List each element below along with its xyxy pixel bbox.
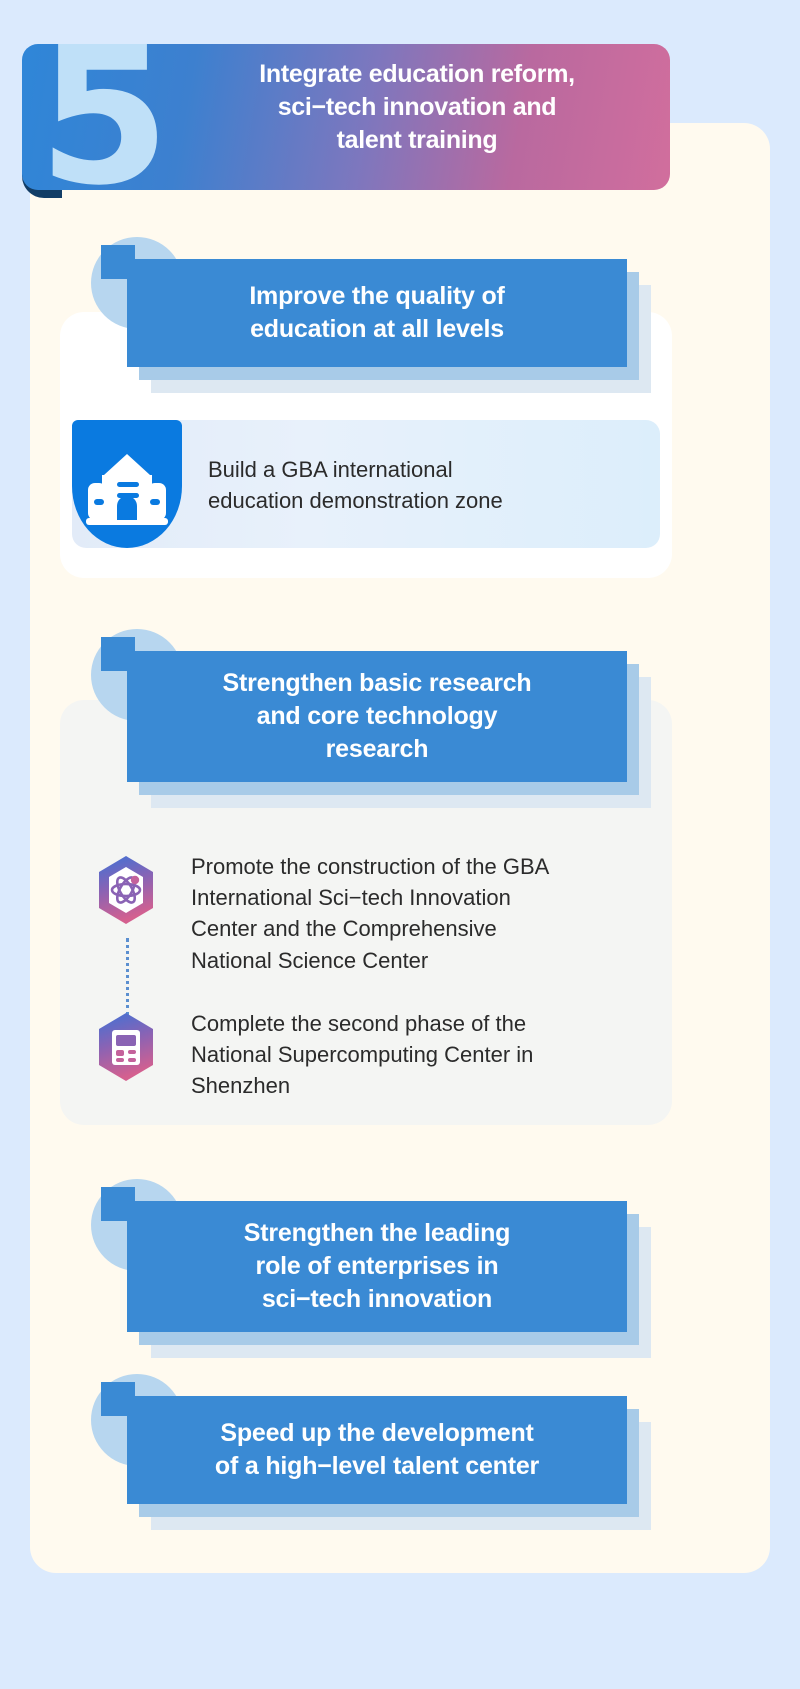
supercomputer-icon bbox=[95, 1012, 157, 1082]
header-banner: 5 Integrate education reform, sci−tech i… bbox=[22, 44, 670, 190]
banner-face: Strengthen basic research and core techn… bbox=[127, 651, 627, 782]
education-item-label: Build a GBA international education demo… bbox=[208, 454, 648, 516]
talent-banner-label: Speed up the development of a high−level… bbox=[215, 1417, 539, 1484]
section-header: 5 Integrate education reform, sci−tech i… bbox=[22, 44, 670, 190]
banner-face: Strengthen the leading role of enterpris… bbox=[127, 1201, 627, 1332]
education-item-row: Build a GBA international education demo… bbox=[72, 420, 660, 548]
banner-face: Speed up the development of a high−level… bbox=[127, 1396, 627, 1504]
enterprise-banner: Strengthen the leading role of enterpris… bbox=[127, 1201, 627, 1332]
enterprise-banner-label: Strengthen the leading role of enterpris… bbox=[244, 1217, 510, 1317]
page-title: Integrate education reform, sci−tech inn… bbox=[172, 58, 662, 157]
research-banner: Strengthen basic research and core techn… bbox=[127, 651, 627, 782]
research-banner-label: Strengthen basic research and core techn… bbox=[222, 667, 531, 767]
school-building-icon bbox=[72, 420, 182, 548]
section-number: 5 bbox=[38, 44, 164, 190]
banner-face: Improve the quality of education at all … bbox=[127, 259, 627, 367]
talent-banner: Speed up the development of a high−level… bbox=[127, 1396, 627, 1504]
research-item-1-label: Promote the construction of the GBA Inte… bbox=[191, 851, 661, 976]
atom-icon bbox=[95, 855, 157, 925]
education-banner: Improve the quality of education at all … bbox=[127, 259, 627, 367]
research-item-2-label: Complete the second phase of the Nationa… bbox=[191, 1008, 661, 1102]
hexagon-connector-line bbox=[126, 938, 129, 1016]
education-banner-label: Improve the quality of education at all … bbox=[249, 280, 504, 347]
